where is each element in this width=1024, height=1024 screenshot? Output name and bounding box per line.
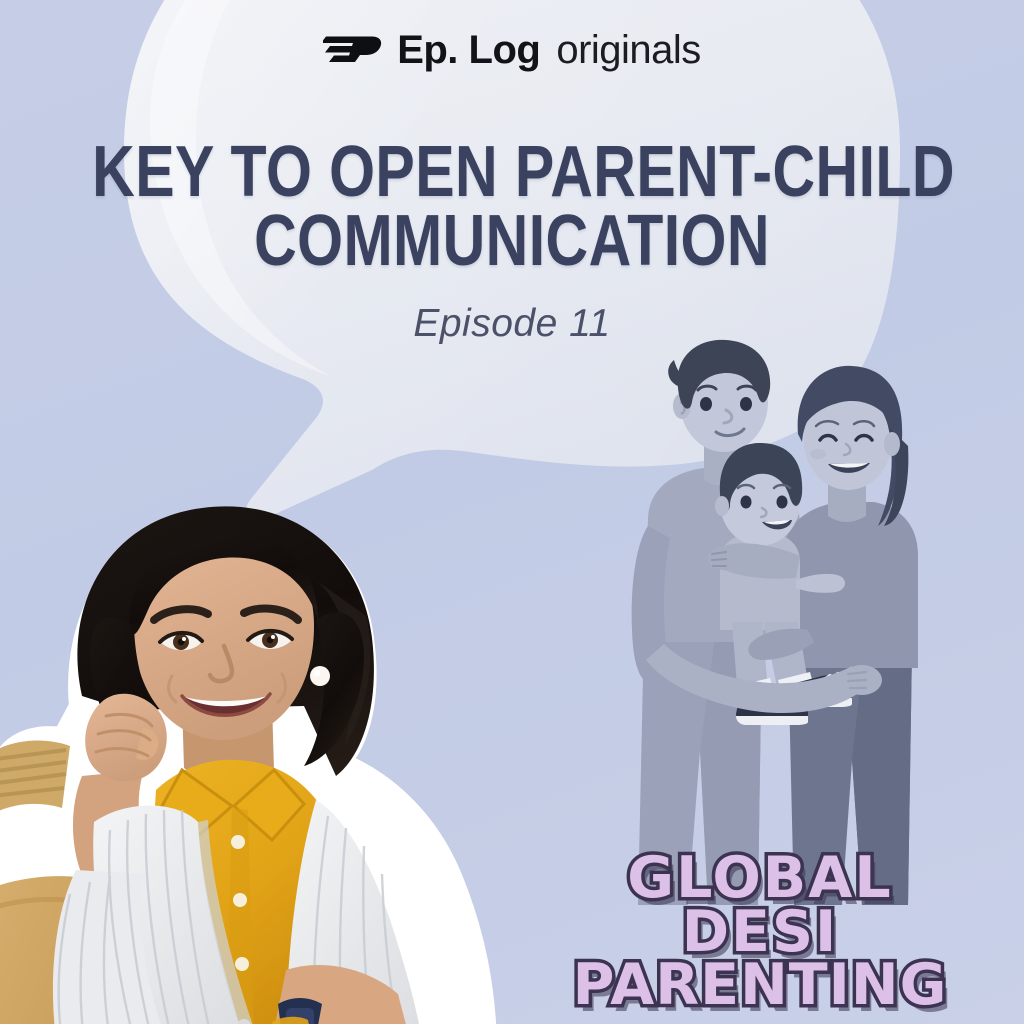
- episode-title-line-1: KEY TO OPEN PARENT-CHILD: [92, 138, 932, 207]
- episode-number: Episode 11: [0, 302, 1024, 346]
- ep-log-mark-icon: [323, 32, 383, 68]
- host-portrait: [0, 470, 506, 1024]
- logo-wordmark-light: originals: [556, 30, 700, 70]
- episode-title-line-2: COMMUNICATION: [92, 207, 932, 276]
- logo-wordmark-bold: Ep. Log: [397, 30, 540, 70]
- podcast-cover: Ep. Log originals KEY TO OPEN PARENT-CHI…: [0, 0, 1024, 1024]
- brand-logo: Ep. Log originals: [0, 30, 1024, 70]
- show-brand-line-1: GLOBAL DESI: [540, 852, 980, 959]
- title-block: KEY TO OPEN PARENT-CHILD COMMUNICATION E…: [0, 138, 1024, 346]
- family-illustration: [612, 330, 942, 910]
- show-brand-lockup: GLOBAL DESI PARENTING: [540, 852, 980, 1013]
- show-brand-line-2: PARENTING: [540, 959, 980, 1013]
